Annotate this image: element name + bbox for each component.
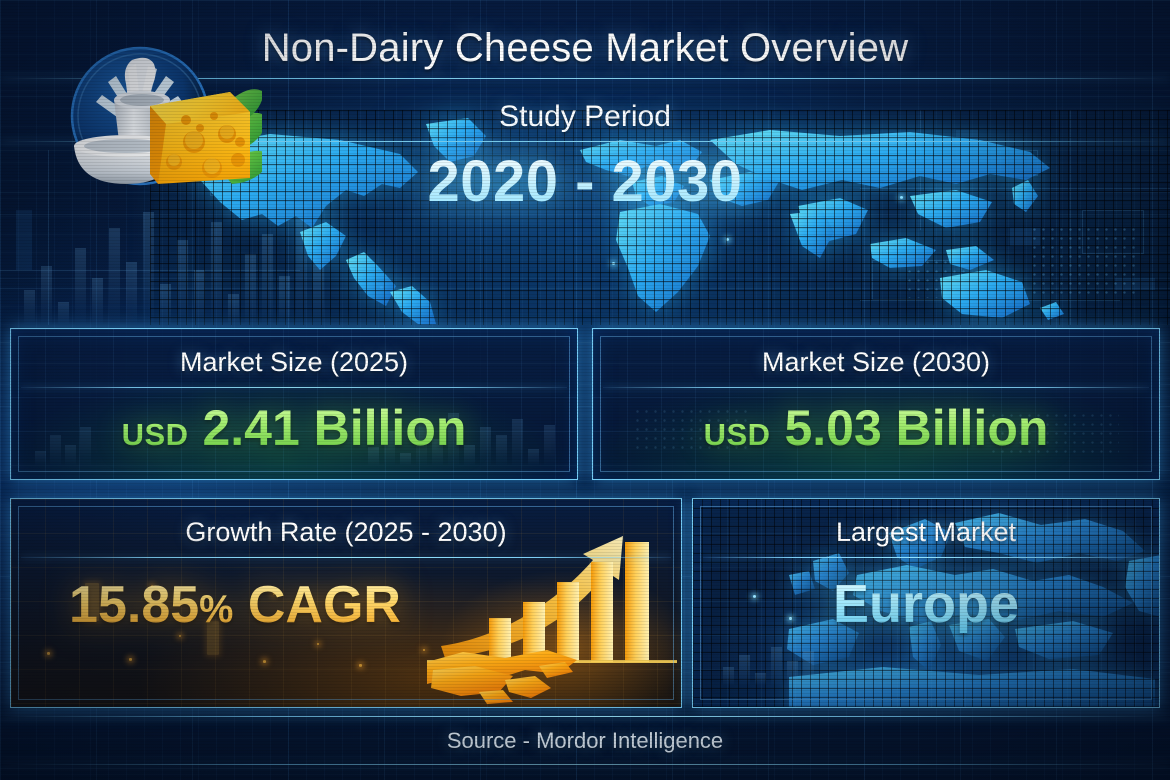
infographic-canvas: Non-Dairy Cheese Market Overview Study P… xyxy=(0,0,1170,780)
background-vignette xyxy=(0,0,1170,780)
